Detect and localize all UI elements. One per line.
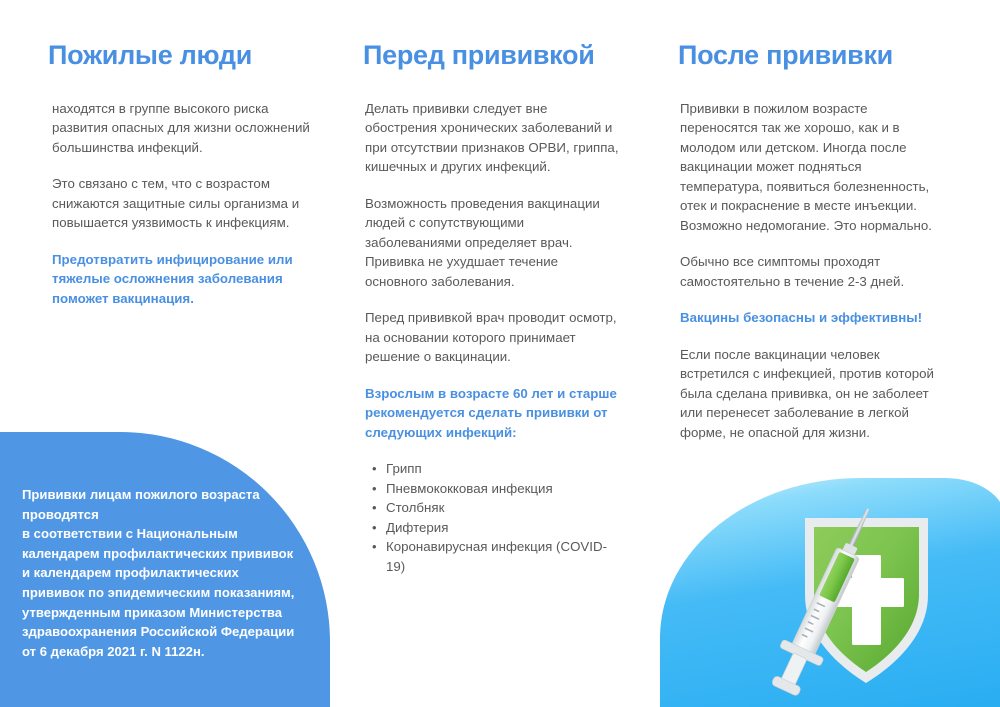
accent-col3-safe-effective: Вакцины безопасны и эффективны! (680, 308, 942, 328)
paragraph-col2-1: Делать прививки следует вне обострения х… (365, 99, 620, 177)
column-before-vaccination: Перед прививкой Делать прививки следует … (365, 0, 620, 576)
paragraph-col1-1: находятся в группе высокого риска развит… (52, 99, 314, 158)
list-item: Грипп (386, 459, 620, 479)
accent-col2-recommendation: Взрослым в возрасте 60 лет и старше реко… (365, 384, 620, 443)
list-item: Дифтерия (386, 518, 620, 538)
brochure-page: Пожилые люди находятся в группе высокого… (0, 0, 1000, 707)
column-after-vaccination: После прививки Прививки в пожилом возрас… (680, 0, 942, 459)
heading-before-vaccination: Перед прививкой (363, 41, 620, 71)
list-item: Коронавирусная инфекция (COVID-19) (386, 537, 620, 576)
paragraph-col3-1: Прививки в пожилом возрасте переносятся … (680, 99, 942, 236)
paragraph-col2-2: Возможность проведения вакцинации людей … (365, 194, 620, 292)
accent-col1-prevention: Предотвратить инфицирование или тяжелые … (52, 250, 314, 309)
heading-elderly-people: Пожилые люди (48, 41, 314, 71)
vaccine-shield-syringe-illustration (735, 500, 950, 700)
heading-after-vaccination: После прививки (678, 41, 942, 71)
panel-legal-text: Прививки лицам пожилого возраста проводя… (22, 485, 297, 661)
list-item: Столбняк (386, 498, 620, 518)
paragraph-col1-2: Это связано с тем, что с возрастом снижа… (52, 174, 314, 233)
paragraph-col2-3: Перед прививкой врач проводит осмотр, на… (365, 308, 620, 367)
column-elderly-people: Пожилые люди находятся в группе высокого… (52, 0, 314, 325)
paragraph-col3-3: Если после вакцинации человек встретился… (680, 345, 942, 443)
paragraph-col3-2: Обычно все симптомы проходят самостоятел… (680, 252, 942, 291)
list-item: Пневмококковая инфекция (386, 479, 620, 499)
infections-list: Грипп Пневмококковая инфекция Столбняк Д… (365, 459, 620, 576)
